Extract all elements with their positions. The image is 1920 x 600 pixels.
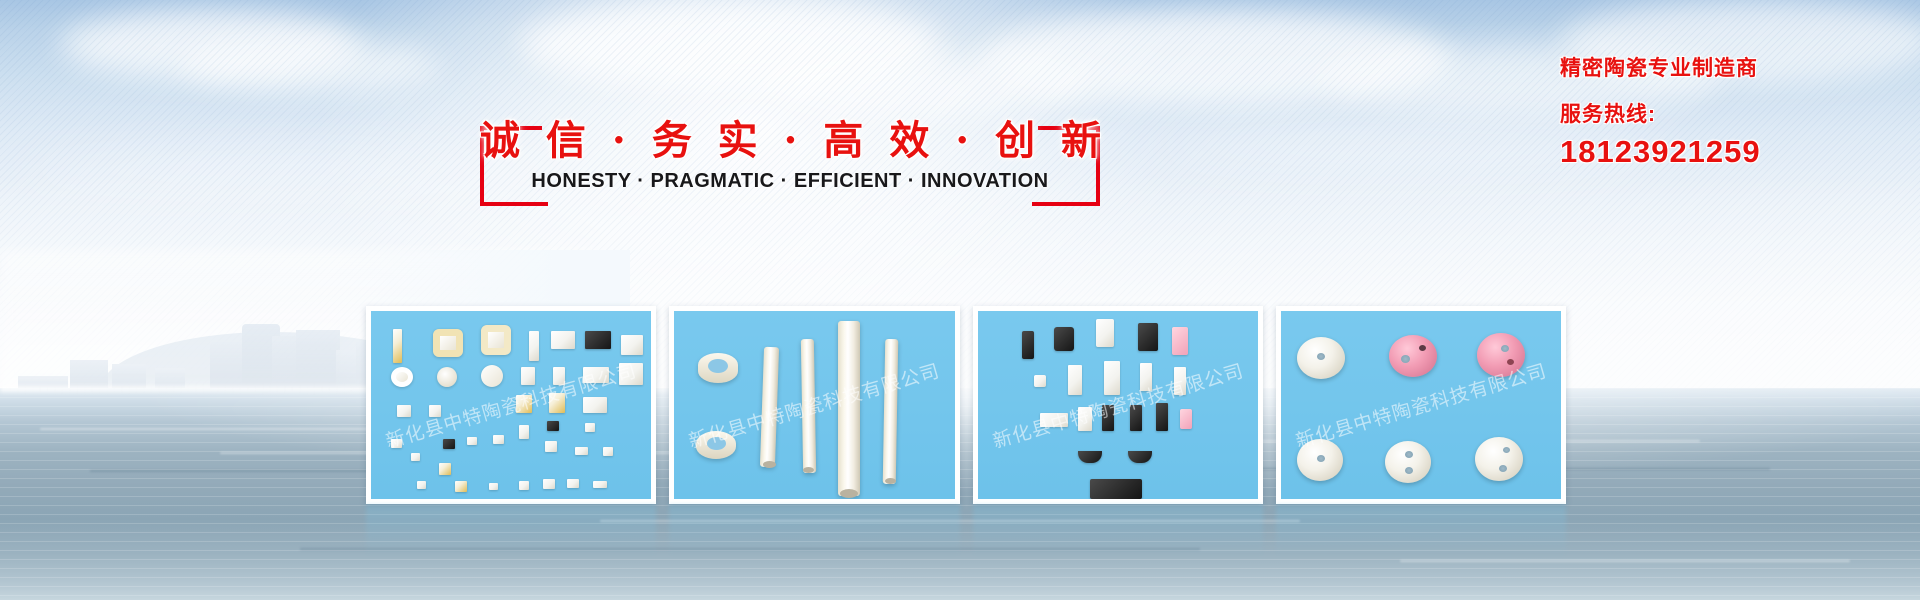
hotline-number[interactable]: 18123921259	[1560, 134, 1900, 170]
bracket-bottom-left-horizontal	[480, 202, 548, 206]
product-panel-ceramic-blocks[interactable]: 新化县中特陶瓷科技有限公司	[973, 306, 1263, 504]
wave-highlight	[40, 428, 420, 430]
wave-highlight	[1400, 560, 1850, 562]
panel-background: 新化县中特陶瓷科技有限公司	[674, 311, 954, 499]
product-panel-tubes-rings[interactable]: 新化县中特陶瓷科技有限公司	[669, 306, 959, 504]
product-panel-smd-components[interactable]: 新化县中特陶瓷科技有限公司	[366, 306, 656, 504]
panel-background: 新化县中特陶瓷科技有限公司	[1281, 311, 1561, 499]
panel-background: 新化县中特陶瓷科技有限公司	[978, 311, 1258, 499]
product-panel-row: 新化县中特陶瓷科技有限公司 新化县中特陶瓷科技有限公司	[366, 306, 1566, 504]
promotional-banner: 诚 信 · 务 实 · 高 效 · 创 新 HONESTY · PRAGMATI…	[0, 0, 1920, 600]
product-panel-ceramic-discs[interactable]: 新化县中特陶瓷科技有限公司	[1276, 306, 1566, 504]
contact-block: 精密陶瓷专业制造商 服务热线: 18123921259	[1560, 52, 1900, 170]
hotline-label: 服务热线:	[1560, 98, 1900, 128]
bracket-bottom-right-horizontal	[1032, 202, 1100, 206]
slogan-chinese: 诚 信 · 务 实 · 高 效 · 创 新	[480, 108, 1100, 166]
panel-background: 新化县中特陶瓷科技有限公司	[371, 311, 651, 499]
slogan-english: HONESTY · PRAGMATIC · EFFICIENT · INNOVA…	[480, 170, 1100, 193]
company-tagline: 精密陶瓷专业制造商	[1560, 52, 1900, 82]
wave-shadow	[300, 548, 1200, 550]
wave-highlight	[600, 520, 1300, 522]
slogan-block: 诚 信 · 务 实 · 高 效 · 创 新 HONESTY · PRAGMATI…	[480, 108, 1100, 208]
